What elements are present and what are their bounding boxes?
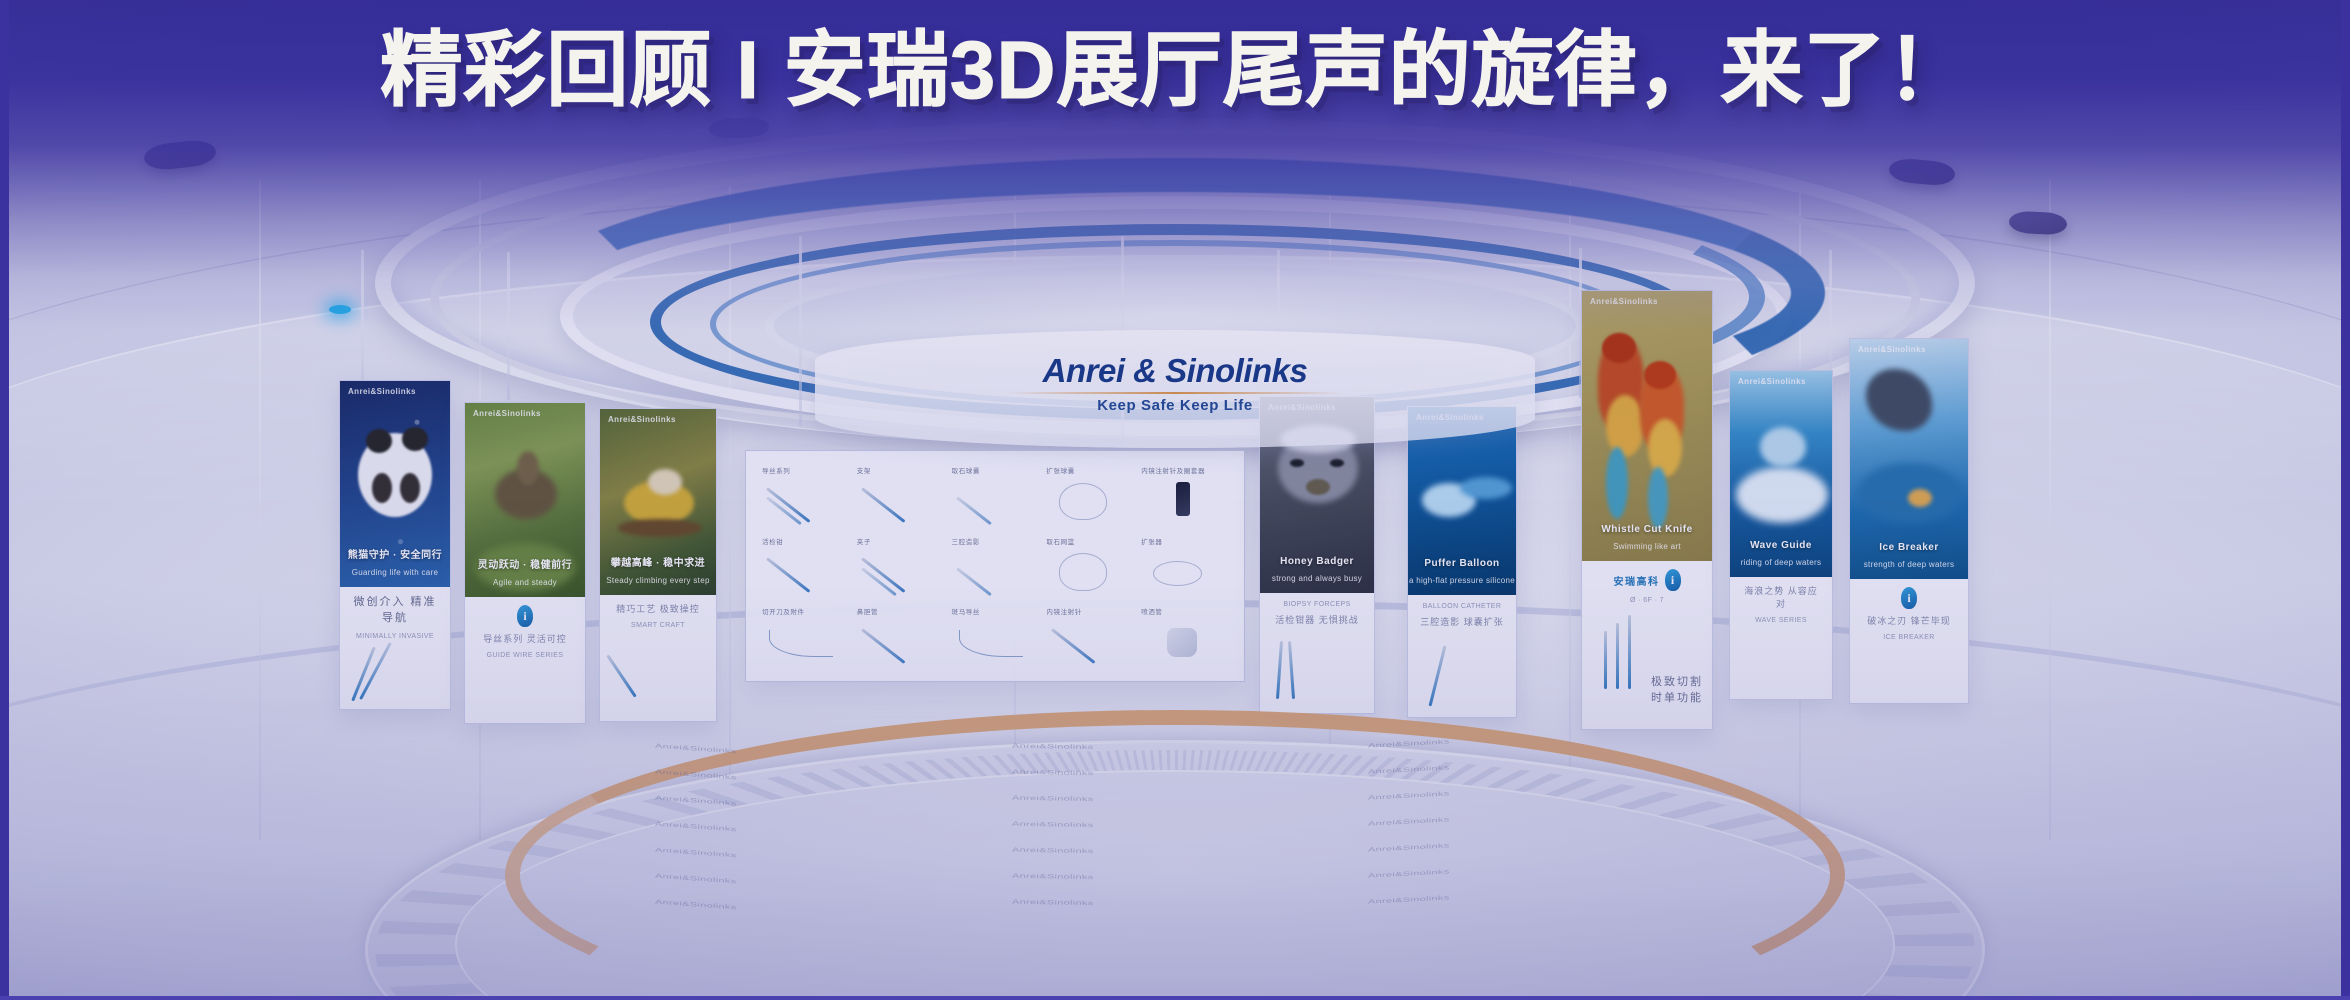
- product-item[interactable]: 鼻胆管: [857, 606, 944, 667]
- poster-title: 攀越高峰 · 稳中求进: [600, 554, 716, 569]
- poster-bird: Anrei&Sinolinks Whistle Cut Knife Swimmi…: [1582, 291, 1712, 561]
- panel-caption-en: ICE BREAKER: [1883, 634, 1934, 641]
- showroom-3d-scene: Anrei&Sinolinks 熊猫守护 · 安全同行 Guarding lif…: [9, 0, 2341, 1000]
- panel-body: 破冰之刃 锋芒毕现 ICE BREAKER: [1850, 579, 1968, 703]
- poster-subtitle: riding of deep waters: [1730, 558, 1832, 567]
- product-rod: [1604, 631, 1607, 689]
- panel-body: BALLOON CATHETER 三腔造影 球囊扩张: [1408, 595, 1516, 717]
- poster-subtitle: Agile and steady: [465, 578, 585, 587]
- poster-brand: Anrei&Sinolinks: [1858, 345, 1926, 354]
- poster-brand: Anrei&Sinolinks: [473, 409, 541, 418]
- product-item[interactable]: 夹子: [857, 536, 944, 597]
- product-shape: [1046, 549, 1133, 597]
- product-item[interactable]: 取石网篮: [1046, 536, 1133, 597]
- poster-frog: Anrei&Sinolinks 攀越高峰 · 稳中求进 Steady climb…: [600, 409, 716, 595]
- product-shape: [1141, 549, 1228, 597]
- panel-caption-en: BIOPSY FORCEPS: [1283, 601, 1350, 608]
- product-label: 内镜注射针及圈套器: [1141, 465, 1228, 475]
- poster-subtitle: Steady climbing every step: [600, 576, 716, 585]
- product-item[interactable]: 喷洒管: [1141, 606, 1228, 667]
- product-label: 内镜注射针: [1046, 606, 1133, 616]
- poster-title: Ice Breaker: [1850, 542, 1968, 553]
- product-label: 取石网篮: [1046, 536, 1133, 546]
- product-item[interactable]: 支架: [857, 465, 944, 526]
- poster-ice: Anrei&Sinolinks Ice Breaker strength of …: [1850, 339, 1968, 579]
- exhibit-panel-puffer[interactable]: Anrei&Sinolinks Puffer Balloon a high-fl…: [1407, 406, 1517, 718]
- product-shape: [762, 549, 849, 597]
- poster-brand: Anrei&Sinolinks: [348, 387, 416, 396]
- product-rod: [1429, 646, 1447, 707]
- product-shape: [1046, 619, 1133, 667]
- ceiling-light-fixture: [143, 138, 217, 171]
- product-rod: [1288, 641, 1295, 699]
- frame-edge-bottom: [0, 996, 2350, 1000]
- panel-caption-cn: 导丝系列 灵活可控: [483, 633, 567, 646]
- panel-caption-en: WAVE SERIES: [1755, 617, 1807, 624]
- banner-stage: Anrei&Sinolinks 熊猫守护 · 安全同行 Guarding lif…: [0, 0, 2350, 1000]
- panel-body: 海浪之势 从容应对 WAVE SERIES: [1730, 577, 1832, 699]
- panel-caption-en: MINIMALLY INVASIVE: [356, 633, 434, 640]
- product-item[interactable]: 切开刀及附件: [762, 606, 849, 667]
- info-panel-caption-cn: 极致切割 时单功能: [1650, 675, 1704, 707]
- poster-panda: Anrei&Sinolinks 熊猫守护 · 安全同行 Guarding lif…: [340, 381, 450, 587]
- poster-subtitle: strong and always busy: [1260, 574, 1374, 583]
- product-item[interactable]: 三腔造影: [952, 536, 1039, 597]
- product-rod: [1616, 623, 1619, 689]
- frame-edge-right: [2341, 0, 2350, 1000]
- panel-caption-cn: 活检钳器 无惧挑战: [1275, 614, 1359, 627]
- panel-body: 微创介入 精准导航 MINIMALLY INVASIVE: [340, 587, 450, 709]
- panel-caption-cn: 三腔造影 球囊扩张: [1420, 616, 1504, 629]
- panel-caption-en: GUIDE WIRE SERIES: [487, 652, 564, 659]
- product-label: 夹子: [857, 536, 944, 546]
- poster-subtitle: a high-flat pressure silicone: [1408, 576, 1516, 585]
- poster-brand: Anrei&Sinolinks: [1738, 377, 1806, 386]
- info-panel-spec: Ø · 6F · 7: [1630, 597, 1664, 604]
- product-shape: [762, 478, 849, 526]
- exhibit-panel-ice[interactable]: Anrei&Sinolinks Ice Breaker strength of …: [1849, 338, 1969, 704]
- brand-i-logo: 安瑞高科: [1614, 569, 1681, 591]
- product-label: 扩张球囊: [1046, 465, 1133, 475]
- product-label: 扩张器: [1141, 536, 1228, 546]
- product-label: 活检钳: [762, 536, 849, 546]
- brand-i-logo: [1901, 587, 1917, 609]
- info-panel-body: 安瑞高科 Ø · 6F · 7 极致切割 时单功能: [1582, 561, 1712, 729]
- product-label: 三腔造影: [952, 536, 1039, 546]
- panel-caption-cn: 微创介入 精准导航: [350, 595, 440, 627]
- product-rod: [606, 654, 636, 697]
- brand-logo-main: Anrei & Sinolinks: [960, 352, 1390, 390]
- brand-logo-text: 安瑞高科: [1614, 573, 1660, 588]
- exhibit-panel-kangaroo[interactable]: Anrei&Sinolinks 灵动跃动 · 稳健前行 Agile and st…: [464, 402, 586, 724]
- exhibit-panel-panda[interactable]: Anrei&Sinolinks 熊猫守护 · 安全同行 Guarding lif…: [339, 380, 451, 710]
- product-grid: 导丝系列 支架 取石球囊 扩张球囊: [762, 465, 1228, 667]
- ceiling-light-fixture: [2008, 210, 2067, 235]
- poster-subtitle: Swimming like art: [1582, 542, 1712, 551]
- product-shape: [952, 549, 1039, 597]
- product-item[interactable]: 扩张球囊: [1046, 465, 1133, 526]
- product-shape: [952, 478, 1039, 526]
- product-item[interactable]: 取石球囊: [952, 465, 1039, 526]
- product-item[interactable]: 内镜注射针及圈套器: [1141, 465, 1228, 526]
- product-shape: [857, 549, 944, 597]
- frame-edge-left: [0, 0, 9, 1000]
- panel-caption-cn: 精巧工艺 极致操控: [616, 603, 700, 616]
- brand-logo-tagline: Keep Safe Keep Life: [960, 397, 1390, 414]
- product-item[interactable]: 内镜注射针: [1046, 606, 1133, 667]
- poster-wave: Anrei&Sinolinks Wave Guide riding of dee…: [1730, 371, 1832, 577]
- exhibit-panel-frog[interactable]: Anrei&Sinolinks 攀越高峰 · 稳中求进 Steady climb…: [599, 408, 717, 722]
- poster-title: Honey Badger: [1260, 556, 1374, 567]
- product-shape: [857, 478, 944, 526]
- poster-subtitle: strength of deep waters: [1850, 560, 1968, 569]
- brand-logo-rule: [1007, 392, 1342, 394]
- product-catalog-board[interactable]: 导丝系列 支架 取石球囊 扩张球囊: [745, 450, 1245, 682]
- poster-subtitle: Guarding life with care: [340, 568, 450, 577]
- ceiling-light-fixture: [1888, 157, 1956, 187]
- product-label: 支架: [857, 465, 944, 475]
- product-shape: [952, 619, 1039, 667]
- brand-sign: Anrei & Sinolinks Keep Safe Keep Life: [960, 352, 1390, 414]
- product-shape: [762, 619, 849, 667]
- poster-title: 灵动跃动 · 稳健前行: [465, 556, 585, 571]
- panel-body: 导丝系列 灵活可控 GUIDE WIRE SERIES: [465, 597, 585, 723]
- product-label: 鼻胆管: [857, 606, 944, 616]
- product-label: 喷洒管: [1141, 606, 1228, 616]
- product-item[interactable]: 扩张器: [1141, 536, 1228, 597]
- panel-body: BIOPSY FORCEPS 活检钳器 无惧挑战: [1260, 593, 1374, 713]
- product-shape: [857, 619, 944, 667]
- product-shape: [1046, 478, 1133, 526]
- product-label: 斑马导丝: [952, 606, 1039, 616]
- product-item[interactable]: 导丝系列: [762, 465, 849, 526]
- poster-title: 熊猫守护 · 安全同行: [340, 546, 450, 561]
- poster-brand: Anrei&Sinolinks: [1590, 297, 1658, 306]
- product-shape: [1141, 619, 1228, 667]
- poster-brand: Anrei&Sinolinks: [608, 415, 676, 424]
- exhibit-panel-bird[interactable]: Anrei&Sinolinks Whistle Cut Knife Swimmi…: [1581, 290, 1713, 730]
- panel-body: 精巧工艺 极致操控 SMART CRAFT: [600, 595, 716, 721]
- poster-kangaroo: Anrei&Sinolinks 灵动跃动 · 稳健前行 Agile and st…: [465, 403, 585, 597]
- product-item[interactable]: 活检钳: [762, 536, 849, 597]
- ceiling-light-fixture: [709, 116, 770, 139]
- poster-title: Puffer Balloon: [1408, 558, 1516, 569]
- panel-caption-en: SMART CRAFT: [631, 622, 685, 629]
- product-item[interactable]: 斑马导丝: [952, 606, 1039, 667]
- product-rod: [1628, 615, 1631, 689]
- product-rod: [1276, 641, 1283, 699]
- i-badge-icon: [1901, 587, 1917, 609]
- i-badge-icon: [1665, 569, 1681, 591]
- exhibit-panel-wave[interactable]: Anrei&Sinolinks Wave Guide riding of dee…: [1729, 370, 1833, 700]
- i-badge-icon: [517, 605, 533, 627]
- product-label: 切开刀及附件: [762, 606, 849, 616]
- poster-title: Wave Guide: [1730, 540, 1832, 551]
- panel-caption-cn: 破冰之刃 锋芒毕现: [1867, 615, 1951, 628]
- product-shape: [1141, 478, 1228, 526]
- panel-caption-en: BALLOON CATHETER: [1423, 603, 1502, 610]
- panel-caption-cn: 海浪之势 从容应对: [1740, 585, 1822, 611]
- product-label: 导丝系列: [762, 465, 849, 475]
- poster-title: Whistle Cut Knife: [1582, 524, 1712, 535]
- brand-i-logo: [517, 605, 533, 627]
- product-label: 取石球囊: [952, 465, 1039, 475]
